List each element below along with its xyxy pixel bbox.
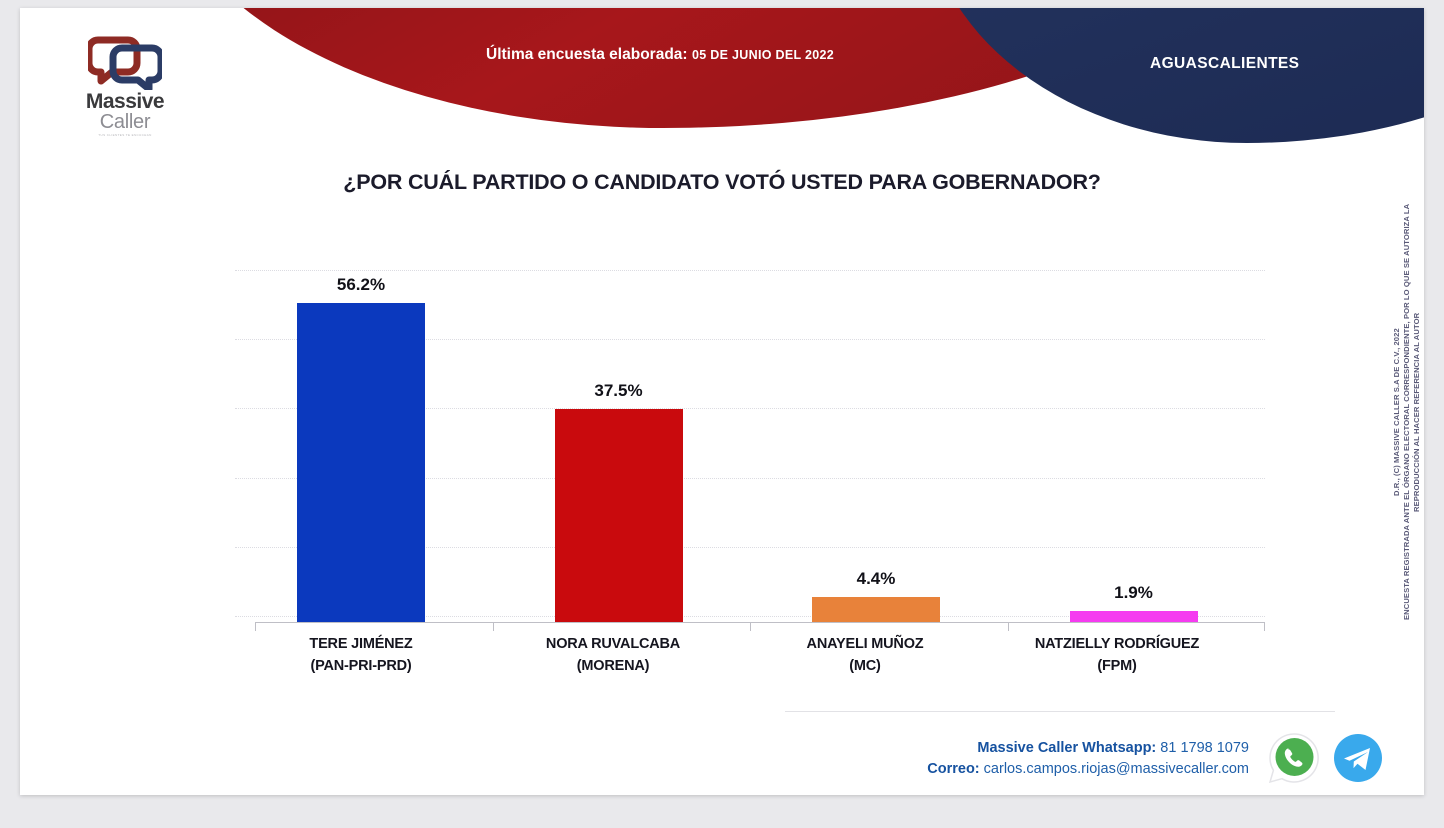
category-label: ANAYELI MUÑOZ(MC)	[739, 633, 991, 678]
whatsapp-number[interactable]: 81 1798 1079	[1160, 740, 1249, 756]
candidate-party: (PAN-PRI-PRD)	[235, 655, 487, 677]
whatsapp-line: Massive Caller Whatsapp: 81 1798 1079	[927, 738, 1249, 759]
candidate-name: ANAYELI MUÑOZ	[739, 633, 991, 655]
chart-bar[interactable]	[297, 303, 425, 622]
state-name: AGUASCALIENTES	[1150, 55, 1299, 73]
x-axis-tick	[255, 622, 256, 631]
candidate-name: NATZIELLY RODRÍGUEZ	[991, 633, 1243, 655]
survey-date: Última encuesta elaborada: 05 DE JUNIO D…	[280, 46, 1040, 64]
logo-word-caller: Caller	[75, 112, 175, 133]
social-links	[1266, 730, 1384, 786]
category-label: TERE JIMÉNEZ(PAN-PRI-PRD)	[235, 633, 487, 678]
telegram-icon[interactable]	[1332, 732, 1384, 784]
survey-date-label: Última encuesta elaborada:	[486, 46, 688, 63]
candidate-name: TERE JIMÉNEZ	[235, 633, 487, 655]
x-axis-tick	[1008, 622, 1009, 631]
bar-slot: 1.9%	[1008, 270, 1260, 622]
copyright-line-2: ENCUESTA REGISTRADA ANTE EL ÓRGANO ELECT…	[1402, 178, 1422, 646]
bar-value-label: 4.4%	[857, 569, 896, 589]
candidate-name: NORA RUVALCABA	[487, 633, 739, 655]
chart-bar[interactable]	[1070, 611, 1198, 622]
copyright-line-1: D.R., (C) MASSIVE CALLER S.A DE C.V., 20…	[1392, 178, 1402, 646]
copyright-notice: D.R., (C) MASSIVE CALLER S.A DE C.V., 20…	[1392, 178, 1422, 646]
whatsapp-label: Massive Caller Whatsapp:	[977, 740, 1156, 756]
email-address[interactable]: carlos.campos.riojas@massivecaller.com	[984, 761, 1249, 777]
logo-tagline: TUS CLIENTES TE ESCUCHAN	[75, 133, 175, 137]
chart-bar[interactable]	[555, 409, 683, 622]
slide-canvas: Última encuesta elaborada: 05 DE JUNIO D…	[20, 8, 1424, 795]
candidate-party: (FPM)	[991, 655, 1243, 677]
chart-bar[interactable]	[812, 597, 940, 622]
bar-chart-plot-area: 56.2%37.5%4.4%1.9%	[235, 270, 1265, 622]
logo-word-massive: Massive	[75, 91, 175, 112]
x-axis-line	[255, 622, 1265, 623]
x-axis-category-labels: TERE JIMÉNEZ(PAN-PRI-PRD)NORA RUVALCABA(…	[235, 633, 1265, 678]
category-label: NATZIELLY RODRÍGUEZ(FPM)	[991, 633, 1243, 678]
bar-slot: 56.2%	[235, 270, 487, 622]
contact-block: Massive Caller Whatsapp: 81 1798 1079 Co…	[927, 738, 1249, 780]
category-label: NORA RUVALCABA(MORENA)	[487, 633, 739, 678]
massive-caller-logo: Massive Caller TUS CLIENTES TE ESCUCHAN	[75, 34, 175, 137]
candidate-party: (MORENA)	[487, 655, 739, 677]
survey-date-value: 05 DE JUNIO DEL 2022	[692, 48, 834, 62]
candidate-party: (MC)	[739, 655, 991, 677]
bar-slot: 37.5%	[493, 270, 745, 622]
speech-bubbles-icon	[88, 34, 162, 90]
x-axis-tick	[750, 622, 751, 631]
bar-value-label: 37.5%	[594, 381, 642, 401]
bar-slot: 4.4%	[750, 270, 1002, 622]
bar-value-label: 56.2%	[337, 275, 385, 295]
whatsapp-icon[interactable]	[1266, 730, 1322, 786]
chart-title: ¿POR CUÁL PARTIDO O CANDIDATO VOTÓ USTED…	[20, 170, 1424, 195]
footer-divider	[785, 711, 1335, 712]
email-line: Correo: carlos.campos.riojas@massivecall…	[927, 759, 1249, 780]
x-axis-tick	[493, 622, 494, 631]
x-axis-tick	[1264, 622, 1265, 631]
bar-value-label: 1.9%	[1114, 583, 1153, 603]
email-label: Correo:	[927, 761, 979, 777]
